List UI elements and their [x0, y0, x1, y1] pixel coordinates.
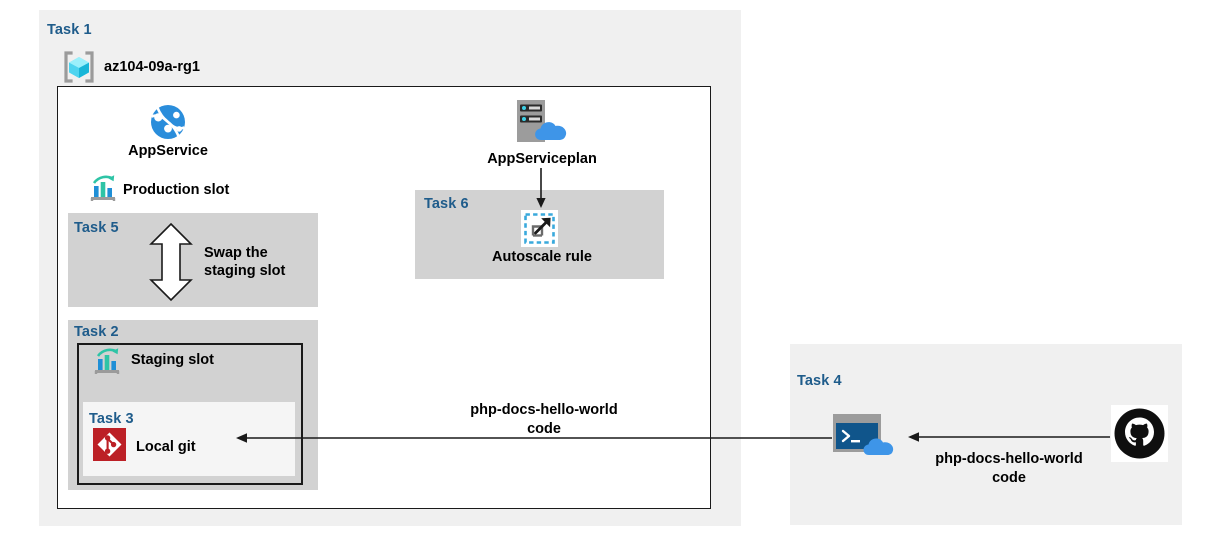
git-icon: [93, 428, 126, 461]
task5-action-line1: Swap the: [204, 244, 285, 262]
task4-edge-line1: php-docs-hello-world: [908, 450, 1110, 469]
task5-action-line2: staging slot: [204, 262, 285, 280]
app-service-icon: [149, 104, 187, 140]
deployment-slot-icon-staging: [92, 346, 122, 376]
resource-group-name: az104-09a-rg1: [104, 58, 200, 76]
task4-edge-line2: code: [908, 469, 1110, 488]
azure-resource-group-icon: [60, 50, 98, 84]
center-edge-label: php-docs-hello-world code: [444, 401, 644, 439]
staging-slot-label: Staging slot: [131, 351, 214, 369]
diagram-canvas: Task 1 az104-09a-rg1 AppService: [0, 0, 1218, 545]
task2-label: Task 2: [74, 324, 119, 340]
task1-label: Task 1: [47, 22, 92, 38]
cloud-shell-icon: [833, 414, 903, 459]
appserviceplan-label: AppServiceplan: [460, 150, 624, 168]
task6-label: Task 6: [424, 196, 469, 212]
swap-up-down-arrow-icon: [148, 222, 194, 302]
deployment-slot-icon-production: [88, 173, 118, 203]
task5-action-label: Swap the staging slot: [204, 244, 285, 280]
task4-label: Task 4: [797, 373, 842, 389]
app-service-plan-icon: [513, 98, 571, 146]
center-edge-line1: php-docs-hello-world: [444, 401, 644, 420]
task3-label: Task 3: [89, 411, 134, 427]
center-edge-line2: code: [444, 420, 644, 439]
local-git-label: Local git: [136, 438, 196, 456]
autoscale-icon: [521, 210, 558, 247]
github-icon: [1111, 405, 1168, 462]
task5-label: Task 5: [74, 220, 119, 236]
production-slot-label: Production slot: [123, 181, 229, 199]
appservice-label: AppService: [98, 142, 238, 160]
task4-edge-label: php-docs-hello-world code: [908, 450, 1110, 488]
autoscale-rule-label: Autoscale rule: [460, 248, 624, 266]
